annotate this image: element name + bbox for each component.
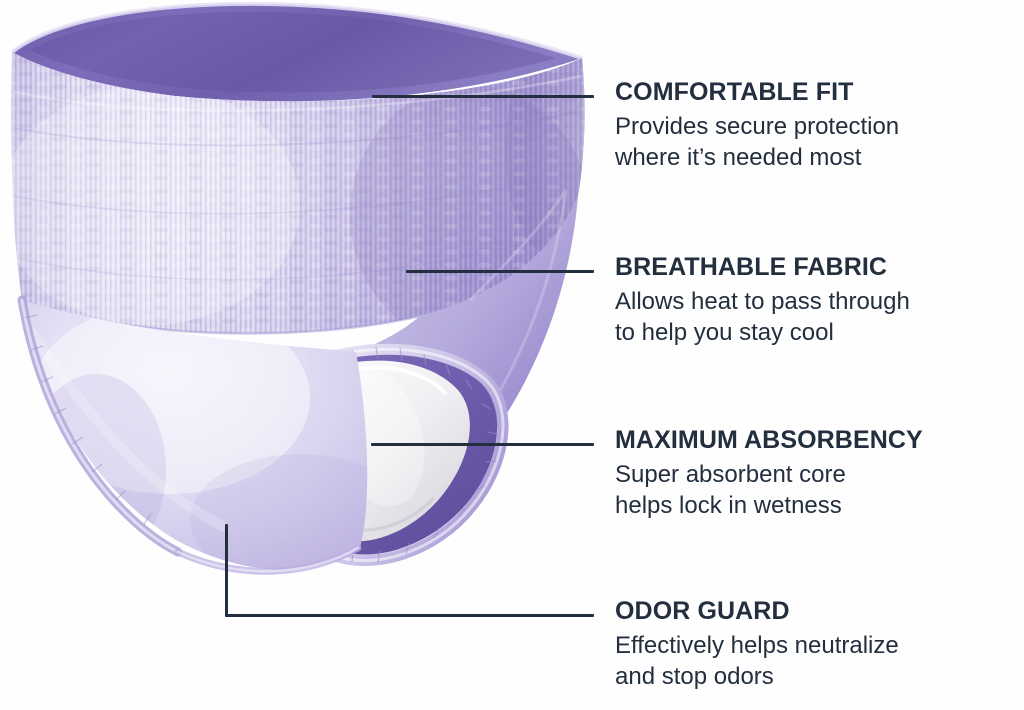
product-feature-infographic: COMFORTABLE FIT Provides secure protecti…	[0, 0, 1024, 710]
callout-comfortable-fit: COMFORTABLE FIT Provides secure protecti…	[615, 78, 1020, 173]
breathable-fabric-leader	[406, 270, 594, 273]
callout-title-odor-guard: ODOR GUARD	[615, 597, 1020, 625]
callout-title-comfortable-fit: COMFORTABLE FIT	[615, 78, 1020, 106]
comfortable-fit-leader	[372, 95, 594, 98]
callout-body-breathable-fabric: Allows heat to pass through to help you …	[615, 286, 1020, 348]
front-panel	[22, 300, 410, 586]
callout-body-odor-guard: Effectively helps neutralize and stop od…	[615, 630, 1020, 692]
callout-line-2: to help you stay cool	[615, 317, 1020, 348]
product-image	[0, 0, 600, 600]
callout-line-1: Effectively helps neutralize	[615, 630, 1020, 661]
callout-line-2: helps lock in wetness	[615, 490, 1020, 521]
callout-line-2: where it’s needed most	[615, 142, 1020, 173]
callout-title-maximum-absorbency: MAXIMUM ABSORBENCY	[615, 426, 1020, 454]
callout-line-2: and stop odors	[615, 661, 1020, 692]
maximum-absorbency-leader	[371, 443, 594, 446]
callout-line-1: Super absorbent core	[615, 459, 1020, 490]
callout-maximum-absorbency: MAXIMUM ABSORBENCY Super absorbent core …	[615, 426, 1020, 521]
callout-line-1: Allows heat to pass through	[615, 286, 1020, 317]
callout-odor-guard: ODOR GUARD Effectively helps neutralize …	[615, 597, 1020, 692]
callout-breathable-fabric: BREATHABLE FABRIC Allows heat to pass th…	[615, 253, 1020, 348]
odor-guard-leader-vertical	[225, 524, 228, 617]
callout-line-1: Provides secure protection	[615, 111, 1020, 142]
callout-body-maximum-absorbency: Super absorbent core helps lock in wetne…	[615, 459, 1020, 521]
callout-title-breathable-fabric: BREATHABLE FABRIC	[615, 253, 1020, 281]
odor-guard-leader-horizontal	[225, 614, 594, 617]
callout-body-comfortable-fit: Provides secure protection where it’s ne…	[615, 111, 1020, 173]
